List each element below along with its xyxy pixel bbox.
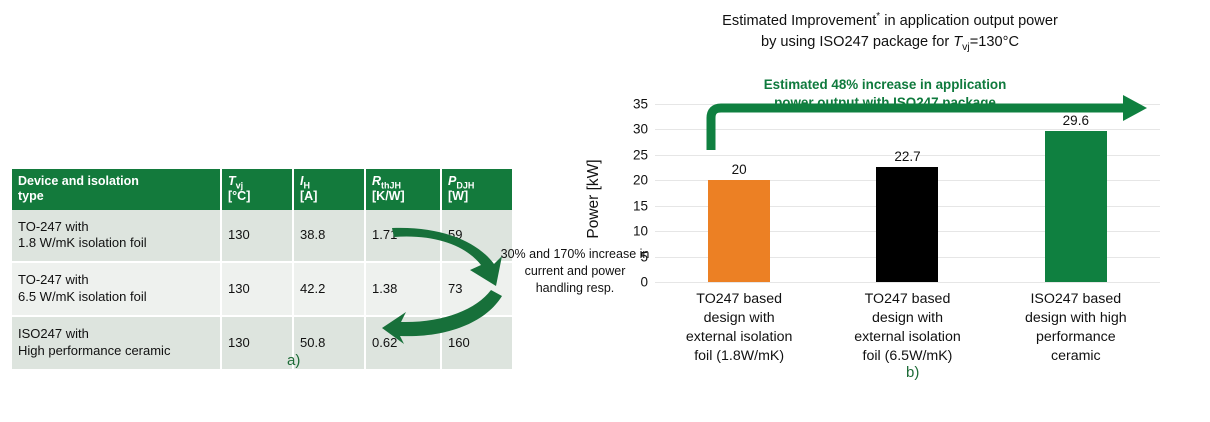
bar-series: 2022.729.6 <box>655 104 1160 282</box>
x-axis-label-line: performance <box>992 328 1160 347</box>
chart-title: Estimated Improvement* in application ou… <box>600 11 1180 52</box>
column-header-pdjh: PDJH [W] <box>441 169 512 210</box>
x-axis-label-2: TO247 baseddesign withexternal isolation… <box>823 290 991 366</box>
figure-root: Device and isolation type Tvj [°C] IH [A… <box>0 0 1210 422</box>
x-axis-label-line: external isolation <box>655 328 823 347</box>
y-axis-tick: 20 <box>620 173 648 188</box>
bar-1[interactable] <box>708 180 770 282</box>
x-axis-label-line: design with <box>655 309 823 328</box>
caption-a: a) <box>287 352 300 369</box>
cell-tvj: 130 <box>221 262 293 316</box>
tvj-symbol: T <box>228 174 236 188</box>
table-header-row: Device and isolation type Tvj [°C] IH [A… <box>12 169 512 210</box>
bar-slot: 20 <box>655 104 823 282</box>
y-axis-tick: 35 <box>620 97 648 112</box>
column-header-ih: IH [A] <box>293 169 365 210</box>
cell-device: ISO247 with High performance ceramic <box>12 316 221 369</box>
chart-title-part2: in application output power <box>880 13 1058 29</box>
column-header-device: Device and isolation type <box>12 169 221 210</box>
y-axis-tick: 5 <box>620 249 648 264</box>
x-axis-label-3: ISO247 baseddesign with highperformancec… <box>992 290 1160 366</box>
pdjh-unit: [W] <box>448 189 506 204</box>
chart-title-tvj-symbol: T <box>953 34 962 50</box>
column-header-rthjh: RthJH [K/W] <box>365 169 441 210</box>
gridline <box>655 282 1160 283</box>
column-header-device-line1: Device and isolation <box>18 174 214 189</box>
cell-device: TO-247 with 6.5 W/mK isolation foil <box>12 262 221 316</box>
x-axis-label-line: foil (1.8W/mK) <box>655 347 823 366</box>
chart-title-part3: by using ISO247 package for <box>761 34 953 50</box>
bar-3[interactable] <box>1045 131 1107 282</box>
cell-ih: 42.2 <box>293 262 365 316</box>
chart-title-part4: =130°C <box>970 34 1019 50</box>
x-axis-label-line: design with high <box>992 309 1160 328</box>
x-axis-label-line: foil (6.5W/mK) <box>823 347 991 366</box>
callout-line-1: Estimated 48% increase in application <box>764 77 1007 92</box>
bar-value-label-2: 22.7 <box>894 149 920 164</box>
x-axis-label-line: design with <box>823 309 991 328</box>
column-header-device-line2: type <box>18 189 214 204</box>
x-axis-label-line: TO247 based <box>655 290 823 309</box>
tvj-unit: [°C] <box>228 189 286 204</box>
rthjh-unit: [K/W] <box>372 189 434 204</box>
cell-ih: 38.8 <box>293 210 365 263</box>
chart-title-part1: Estimated Improvement <box>722 13 876 29</box>
x-axis-label-line: external isolation <box>823 328 991 347</box>
plot-area: 2022.729.6 <box>655 104 1160 282</box>
y-axis-tick: 30 <box>620 122 648 137</box>
bar-slot: 29.6 <box>992 104 1160 282</box>
bar-value-label-3: 29.6 <box>1063 113 1089 128</box>
curved-double-arrow-icon <box>382 212 512 352</box>
rthjh-symbol: R <box>372 174 381 188</box>
caption-b: b) <box>906 364 919 381</box>
cell-ih: 50.8 <box>293 316 365 369</box>
column-header-tvj: Tvj [°C] <box>221 169 293 210</box>
cell-tvj: 130 <box>221 316 293 369</box>
cell-device: TO-247 with 1.8 W/mK isolation foil <box>12 210 221 263</box>
x-axis-label-line: ISO247 based <box>992 290 1160 309</box>
x-axis-label-line: TO247 based <box>823 290 991 309</box>
plot-wrapper: Power [kW] 35302520151050 2022.729.6 TO2… <box>560 104 1210 394</box>
y-axis-tick: 15 <box>620 198 648 213</box>
bar-2[interactable] <box>876 167 938 282</box>
panel-b-chart: Estimated Improvement* in application ou… <box>560 0 1210 422</box>
chart-title-tvj-subscript: vj <box>962 41 970 53</box>
table-header: Device and isolation type Tvj [°C] IH [A… <box>12 169 512 210</box>
ih-unit: [A] <box>300 189 358 204</box>
y-axis-tick: 10 <box>620 224 648 239</box>
bar-slot: 22.7 <box>823 104 991 282</box>
y-axis-ticks: 35302520151050 <box>620 104 648 282</box>
y-axis-label: Power [kW] <box>585 119 603 279</box>
x-axis-label-line: ceramic <box>992 347 1160 366</box>
y-axis-tick: 0 <box>620 275 648 290</box>
cell-tvj: 130 <box>221 210 293 263</box>
panel-a-table: Device and isolation type Tvj [°C] IH [A… <box>0 0 560 422</box>
bar-value-label-1: 20 <box>732 162 747 177</box>
y-axis-tick: 25 <box>620 147 648 162</box>
x-axis-label-1: TO247 baseddesign withexternal isolation… <box>655 290 823 366</box>
